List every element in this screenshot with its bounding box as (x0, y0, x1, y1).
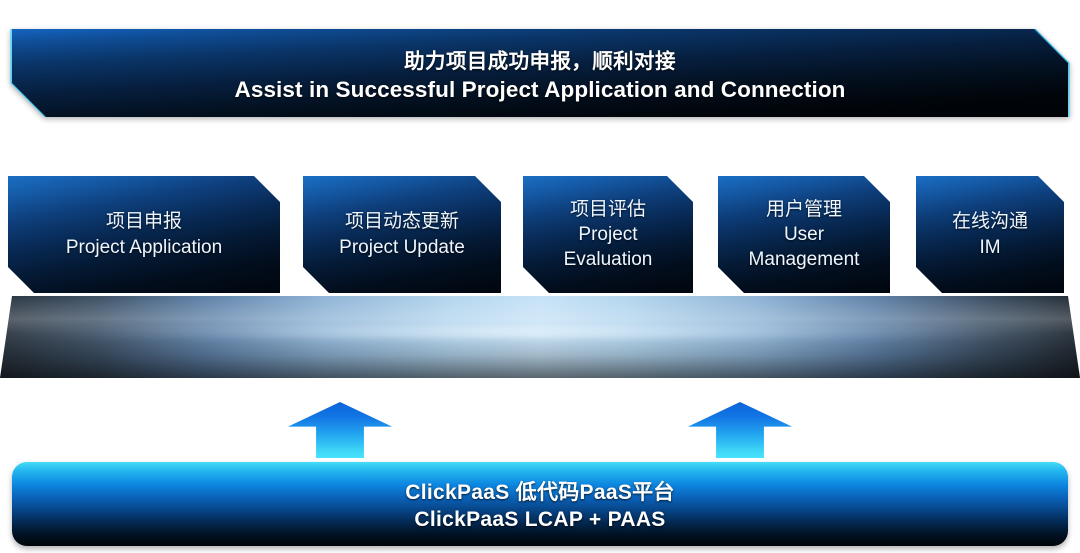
card-text-group: 用户管理 User Management (718, 176, 890, 293)
card-label-en: User (784, 222, 824, 247)
headline-banner: 助力项目成功申报，顺利对接 Assist in Successful Proje… (12, 29, 1068, 117)
card-text-group: 在线沟通 IM (916, 176, 1064, 293)
card-label-en: Project Update (339, 235, 465, 260)
card-label-en: Project (578, 222, 637, 247)
foundation-label-cn: ClickPaaS 低代码PaaS平台 (405, 476, 674, 506)
card-text-group: 项目动态更新 Project Update (303, 176, 501, 293)
card-text-group: 项目评估 Project Evaluation (523, 176, 693, 293)
card-label-en: Project Application (66, 235, 222, 260)
feature-card-project-evaluation[interactable]: 项目评估 Project Evaluation (523, 176, 693, 293)
up-arrow-icon-left (288, 402, 392, 458)
card-label-cn: 项目申报 (106, 209, 182, 234)
feature-card-user-management[interactable]: 用户管理 User Management (718, 176, 890, 293)
banner-title-cn: 助力项目成功申报，顺利对接 (404, 44, 676, 74)
banner-title-en: Assist in Successful Project Application… (234, 77, 845, 103)
feature-card-im[interactable]: 在线沟通 IM (916, 176, 1064, 293)
feature-card-project-update[interactable]: 项目动态更新 Project Update (303, 176, 501, 293)
card-label-en2: Evaluation (564, 247, 653, 272)
card-label-cn: 项目评估 (570, 197, 646, 222)
platform-foundation-bar: ClickPaaS 低代码PaaS平台 ClickPaaS LCAP + PAA… (12, 462, 1068, 546)
foundation-label-en: ClickPaaS LCAP + PAAS (414, 508, 665, 532)
banner-text-group: 助力项目成功申报，顺利对接 Assist in Successful Proje… (12, 29, 1068, 117)
card-label-cn: 用户管理 (766, 197, 842, 222)
platform-sheen (0, 326, 1080, 338)
platform-slab (0, 296, 1080, 378)
card-label-cn: 项目动态更新 (345, 209, 459, 234)
feature-card-project-application[interactable]: 项目申报 Project Application (8, 176, 280, 293)
card-label-en2: Management (749, 247, 860, 272)
up-arrow-icon-right (688, 402, 792, 458)
card-label-cn: 在线沟通 (952, 209, 1028, 234)
card-text-group: 项目申报 Project Application (8, 176, 280, 293)
card-label-en: IM (979, 235, 1000, 260)
